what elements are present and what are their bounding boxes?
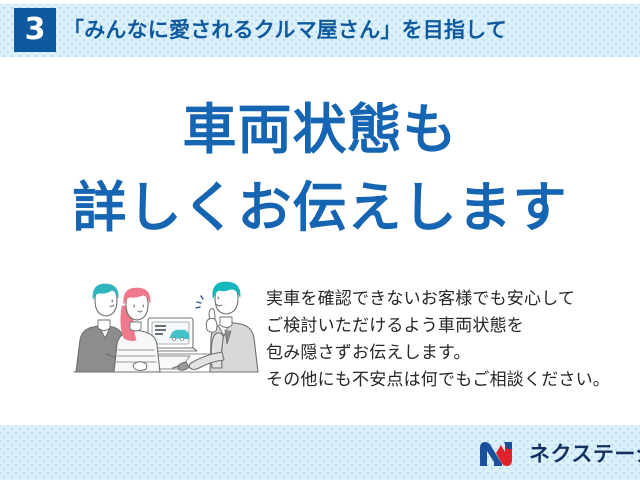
headline-line-1: 車両状態も	[0, 100, 640, 160]
brand-name-text: ネクステージ	[529, 440, 640, 468]
consultation-illustration	[62, 276, 262, 394]
header-title: 「みんなに愛されるクルマ屋さん」を目指して	[63, 12, 507, 48]
nextage-n-mark-icon	[478, 440, 524, 468]
body-line-4: その他にも不安点は何でもご相談ください。	[266, 367, 638, 394]
promotional-banner: 3 「みんなに愛されるクルマ屋さん」を目指して 車両状態も 詳しくお伝えします	[0, 0, 640, 480]
brand-logo: ネクステージ	[478, 438, 640, 470]
body-copy: 実車を確認できないお客様でも安心して ご検討いただけるよう車両状態を 包み隠さず…	[266, 286, 638, 394]
body-line-3: 包み隠さずお伝えします。	[266, 340, 638, 367]
emphasis-marks	[196, 296, 203, 308]
body-line-2: ご検討いただけるよう車両状態を	[266, 313, 638, 340]
body-line-1: 実車を確認できないお客様でも安心して	[266, 286, 638, 313]
headline-line-2: 詳しくお伝えします	[0, 178, 640, 238]
section-number-badge: 3	[14, 8, 56, 52]
